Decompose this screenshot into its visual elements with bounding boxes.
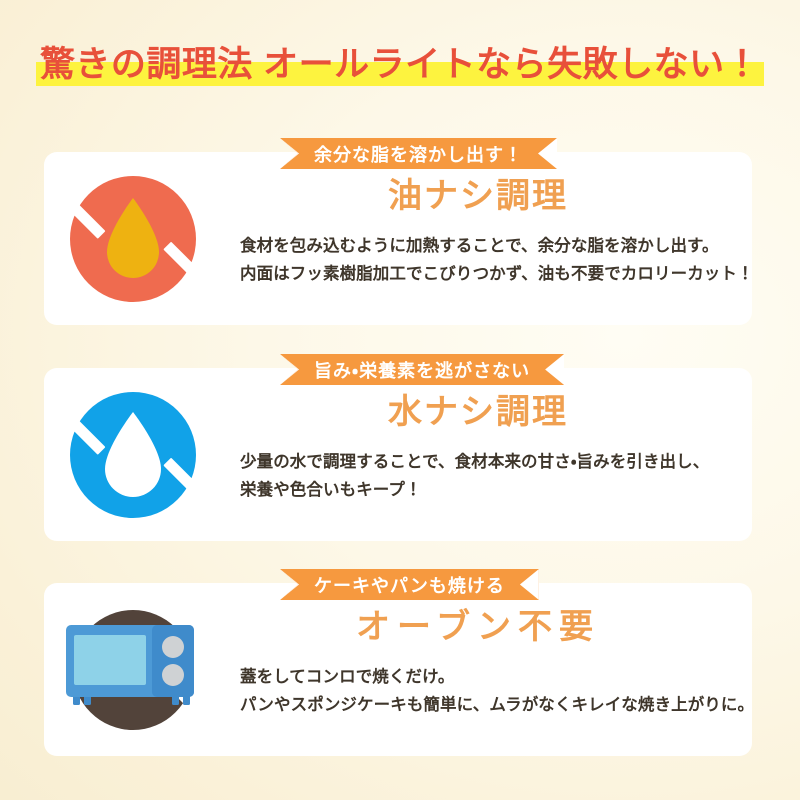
badge-no-oven-label: ケーキやパンも焼ける [314, 572, 505, 598]
ribbon-notch-left-icon [280, 569, 299, 600]
infographic-page: 驚きの調理法 オールライトなら失敗しない！ 余分な脂を溶かし出す！ 油ナシ調理 … [0, 0, 800, 800]
body-line: 栄養や色合いもキープ！ [240, 476, 738, 504]
card-content-no-oil: 余分な脂を溶かし出す！ 油ナシ調理 食材を包み込むように加熱することで、余分な脂… [212, 152, 744, 325]
page-title-inner: 驚きの調理法 オールライトなら失敗しない！ [36, 47, 764, 82]
ribbon-notch-right-icon [520, 569, 539, 600]
body-line: 少量の水で調理することで、食材本来の甘さ・旨みを引き出し、 [240, 448, 738, 476]
body-line: 蓋をしてコンロで焼くだけ。 [240, 663, 738, 691]
badge-no-water-label: 旨み・栄養素を逃がさない [314, 357, 530, 383]
feature-card-no-oil: 余分な脂を溶かし出す！ 油ナシ調理 食材を包み込むように加熱することで、余分な脂… [44, 152, 752, 325]
ribbon-notch-left-icon [280, 138, 299, 169]
no-oil-icon [60, 166, 206, 312]
feature-card-no-oven: ケーキやパンも焼ける オーブン不要 蓋をしてコンロで焼くだけ。 パンやスポンジケ… [44, 583, 752, 756]
card-content-no-oven: ケーキやパンも焼ける オーブン不要 蓋をしてコンロで焼くだけ。 パンやスポンジケ… [212, 583, 744, 756]
body-line: パンやスポンジケーキも簡単に、ムラがなくキレイな焼き上がりに。 [240, 691, 738, 719]
feature-card-no-water: 旨み・栄養素を逃がさない 水ナシ調理 少量の水で調理することで、食材本来の甘さ・… [44, 368, 752, 541]
ribbon-notch-right-icon [545, 354, 564, 385]
headline-no-oil: 油ナシ調理 [212, 176, 744, 217]
body-line: 食材を包み込むように加熱することで、余分な脂を溶かし出す。 [240, 232, 738, 260]
badge-no-oil-label: 余分な脂を溶かし出す！ [314, 141, 523, 167]
headline-no-oven: オーブン不要 [212, 607, 744, 648]
page-title-text: 驚きの調理法 オールライトなら失敗しない！ [40, 45, 760, 84]
body-no-oil: 食材を包み込むように加熱することで、余分な脂を溶かし出す。 内面はフッ素樹脂加工… [240, 232, 738, 289]
no-oven-icon [60, 597, 206, 743]
badge-no-water: 旨み・栄養素を逃がさない [280, 354, 564, 385]
headline-no-water: 水ナシ調理 [212, 392, 744, 433]
body-no-water: 少量の水で調理することで、食材本来の甘さ・旨みを引き出し、 栄養や色合いもキープ… [240, 448, 738, 505]
badge-no-oil: 余分な脂を溶かし出す！ [280, 138, 557, 169]
card-content-no-water: 旨み・栄養素を逃がさない 水ナシ調理 少量の水で調理することで、食材本来の甘さ・… [212, 368, 744, 541]
ribbon-notch-right-icon [538, 138, 557, 169]
page-title: 驚きの調理法 オールライトなら失敗しない！ [0, 34, 800, 94]
ribbon-notch-left-icon [280, 354, 299, 385]
no-water-icon [60, 382, 206, 528]
badge-no-oven: ケーキやパンも焼ける [280, 569, 539, 600]
body-line: 内面はフッ素樹脂加工でこびりつかず、油も不要でカロリーカット！ [240, 260, 738, 288]
body-no-oven: 蓋をしてコンロで焼くだけ。 パンやスポンジケーキも簡単に、ムラがなくキレイな焼き… [240, 663, 738, 720]
